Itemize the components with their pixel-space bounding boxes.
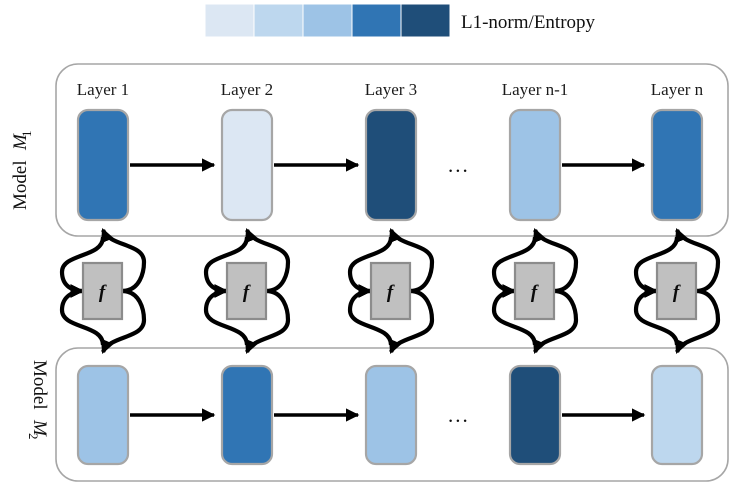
column-label-layer-n: Layer n	[651, 80, 704, 99]
model-1-index: 1	[19, 131, 34, 138]
fusion-unit-4[interactable]: f	[494, 230, 576, 352]
column-label-layer-n-1: Layer n-1	[502, 80, 569, 99]
diagram-root: L1-norm/Entropy Model M 1 Layer 1 Layer …	[0, 0, 736, 491]
legend-swatch-level-4	[352, 4, 401, 37]
model-2-index: 2	[26, 433, 41, 440]
model-1-name: Model	[10, 160, 31, 210]
legend: L1-norm/Entropy	[205, 4, 596, 37]
legend-swatch-level-5	[401, 4, 450, 37]
legend-swatch-level-3	[303, 4, 352, 37]
model-1-label: Model M 1	[10, 131, 34, 211]
column-label-layer-1: Layer 1	[77, 80, 129, 99]
model-2-layer-3[interactable]	[366, 366, 416, 464]
fusion-unit-1[interactable]: f	[62, 230, 144, 352]
model-2-label: Model M 2	[26, 360, 50, 440]
model-1-ellipsis: ...	[448, 153, 470, 177]
model-2-layer-n[interactable]	[652, 366, 702, 464]
legend-swatch-level-1	[205, 4, 254, 37]
model-1-layer-2[interactable]	[222, 110, 272, 220]
model-1-layer-1[interactable]	[78, 110, 128, 220]
legend-label: L1-norm/Entropy	[461, 12, 596, 33]
model-1-layer-3[interactable]	[366, 110, 416, 220]
column-label-layer-2: Layer 2	[221, 80, 273, 99]
model-1-layer-n-1[interactable]	[510, 110, 560, 220]
column-label-layer-3: Layer 3	[365, 80, 417, 99]
fusion-unit-3[interactable]: f	[350, 230, 432, 352]
model-2-ellipsis: ...	[448, 403, 470, 427]
model-2-name: Model	[29, 360, 50, 410]
fusion-unit-5[interactable]: f	[636, 230, 718, 352]
legend-swatch-level-2	[254, 4, 303, 37]
model-2-layer-2[interactable]	[222, 366, 272, 464]
architecture-diagram: L1-norm/Entropy Model M 1 Layer 1 Layer …	[0, 0, 736, 491]
model-2-layer-n-1[interactable]	[510, 366, 560, 464]
model-1-layer-n[interactable]	[652, 110, 702, 220]
fusion-unit-2[interactable]: f	[206, 230, 288, 352]
model-2-layer-1[interactable]	[78, 366, 128, 464]
